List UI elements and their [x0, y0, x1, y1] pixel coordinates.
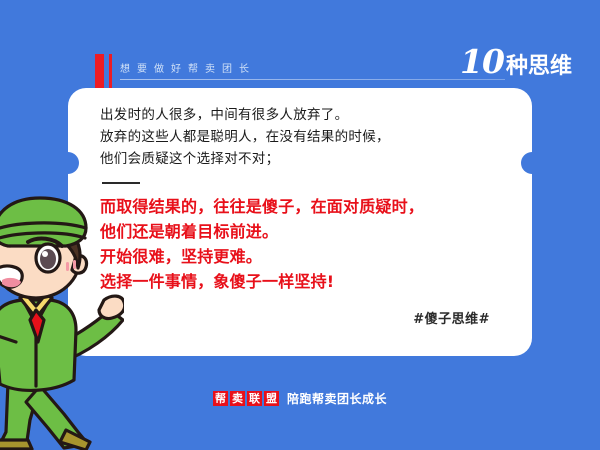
section-divider	[102, 182, 140, 184]
header-title-suffix: 种思维	[506, 54, 572, 79]
mascot-illustration	[0, 196, 124, 450]
body-line: 放弃的这些人都是聪明人，在没有结果的时候，	[100, 126, 512, 148]
highlight-line: 而取得结果的，往往是傻子，在面对质疑时，	[100, 194, 512, 219]
highlight-line: 开始很难，坚持更难。	[100, 244, 512, 269]
body-line: 他们会质疑这个选择对不对；	[100, 148, 512, 170]
header-title: 10种思维	[460, 45, 572, 78]
footer-tagline: 陪跑帮卖团长成长	[287, 390, 387, 407]
highlight-line: 他们还是朝着目标前进。	[100, 219, 512, 244]
body-line: 出发时的人很多，中间有很多人放弃了。	[100, 104, 512, 126]
brand-char: 盟	[264, 391, 279, 406]
brand-logo: 帮 卖 联 盟	[213, 391, 279, 406]
hashtag-label: #傻子思维#	[100, 308, 512, 327]
header-title-number: 10	[460, 42, 504, 81]
brand-char: 联	[247, 391, 262, 406]
header-kicker: 想要做好帮卖团长	[120, 60, 256, 75]
card-content: 出发时的人很多，中间有很多人放弃了。 放弃的这些人都是聪明人，在没有结果的时候，…	[100, 104, 512, 327]
header-rule	[120, 79, 505, 80]
poster-canvas: 想要做好帮卖团长 10种思维 出发时的人很多，中间有很多人放弃了。 放弃的这些人…	[0, 0, 600, 450]
brand-char: 帮	[213, 391, 228, 406]
brand-char: 卖	[230, 391, 245, 406]
highlight-line: 选择一件事情，象傻子一样坚持!	[100, 269, 512, 294]
